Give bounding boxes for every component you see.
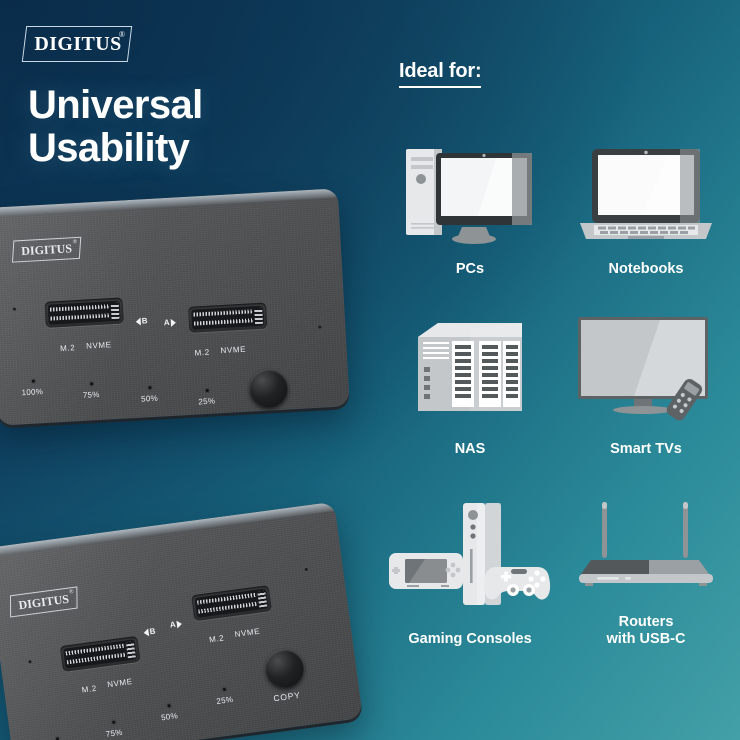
m2-slot-b[interactable] [60,636,141,672]
arrow-left-icon [136,317,141,325]
registered-trademark-icon: ® [119,30,125,39]
progress-led-label-75: 75% [83,390,100,400]
arrow-left-icon [143,628,149,637]
grid-item-gaming-consoles: Gaming Consoles [382,458,558,648]
status-led-right [305,568,308,571]
logo-wordmark: DIGITUS [24,26,130,62]
compatibility-grid: PCs [382,118,734,698]
slot-b-protocol-label: NVME [86,340,112,350]
direction-b-label: B [149,626,156,636]
m2-connector-b [48,301,121,325]
progress-led-label-25: 25% [216,695,234,706]
grid-item-notebooks: Notebooks [558,118,734,278]
dock-registered-trademark-icon: ® [69,589,74,596]
slot-a-standard-label: M.2 [194,348,210,358]
arrow-right-icon [170,318,175,326]
m2-slot-a[interactable] [188,303,267,333]
connector-pin-row [50,304,110,311]
direction-marker-a: A [169,619,182,629]
m2-connector-a [191,306,264,330]
connector-pin-row [198,602,258,614]
dock-top-bevel [0,188,338,217]
grid-item-caption: Gaming Consoles [408,631,531,648]
desktop-pc-icon [400,139,540,252]
progress-led-dot [112,721,116,725]
m2-connector-a [195,588,269,617]
direction-marker-a: A [164,318,176,328]
m2-connector-b [63,639,137,668]
grid-item-smart-tvs: Smart TVs [558,278,734,458]
dock-digitus-logo: DIGITUS ® [12,237,81,263]
direction-marker-b: B [143,626,156,636]
grid-item-caption: Routers with USB-C [607,614,686,648]
slot-b-protocol-label: NVME [107,677,133,689]
grid-item-nas: NAS [382,278,558,458]
connector-key-notch [126,641,136,658]
page-title: Universal Usability [28,84,203,170]
progress-led-label-100: 100% [21,387,43,397]
gaming-console-icon [385,491,555,622]
slot-b-standard-label: M.2 [60,343,76,353]
grid-item-caption: Notebooks [609,261,684,278]
progress-led-label-75: 75% [105,728,123,739]
progress-led-label-50: 50% [161,711,179,722]
connector-pin-row [67,652,127,664]
copy-button[interactable] [249,368,289,408]
slot-a-protocol-label: NVME [220,345,246,355]
product-poster: DIGITUS ® Universal Usability Ideal for: [0,0,740,740]
arrow-right-icon [176,619,182,628]
grid-item-caption: Smart TVs [610,441,682,458]
direction-a-label: A [169,620,176,630]
direction-marker-b: B [135,316,147,326]
ideal-for-heading: Ideal for: [399,60,481,88]
docking-station-bottom: DIGITUS ® M.2 NVME B A [0,502,363,740]
digitus-logo: DIGITUS ® [24,26,130,62]
progress-led-dot [167,704,171,708]
dock-bottom-bevel [0,502,335,557]
dock-registered-trademark-icon: ® [73,239,78,245]
grid-item-routers: Routers with USB-C [558,458,734,648]
smart-tv-icon [572,311,720,432]
status-led-left [13,307,16,310]
connector-pin-row [194,318,254,325]
m2-slot-a[interactable] [191,585,272,621]
m2-slot-b[interactable] [45,298,124,328]
progress-led-label-50: 50% [141,394,158,404]
direction-b-label: B [141,316,147,325]
grid-item-pcs: PCs [382,118,558,278]
copy-button[interactable] [263,647,306,690]
slot-b-standard-label: M.2 [81,684,97,695]
nas-server-icon [410,315,530,432]
notebook-icon [576,139,716,252]
connector-pin-row [50,313,110,320]
router-icon [571,488,721,605]
connector-pin-row [193,309,253,316]
dock-sheen [0,502,363,740]
docking-station-top: DIGITUS ® M.2 NVME B A [0,188,350,425]
status-led-right [318,325,321,328]
progress-led-label-25: 25% [198,397,215,407]
direction-a-label: A [164,318,170,327]
slot-a-standard-label: M.2 [209,633,225,644]
progress-led-dot [206,389,210,393]
slot-a-protocol-label: NVME [234,627,260,639]
grid-item-caption: PCs [456,261,484,278]
status-led-left [28,660,31,663]
copy-button-label: COPY [273,690,301,704]
dock-digitus-logo: DIGITUS ® [9,587,79,618]
connector-key-notch [257,591,267,608]
dock-logo-wordmark: DIGITUS [12,237,81,263]
grid-item-caption: NAS [455,441,486,458]
copy-button-label: COPY [253,411,281,423]
connector-key-notch [111,303,120,319]
progress-led-dot [223,688,227,692]
progress-led-dot [32,380,36,384]
progress-led-dot [148,386,152,390]
progress-led-dot [90,382,94,386]
connector-key-notch [254,308,263,324]
